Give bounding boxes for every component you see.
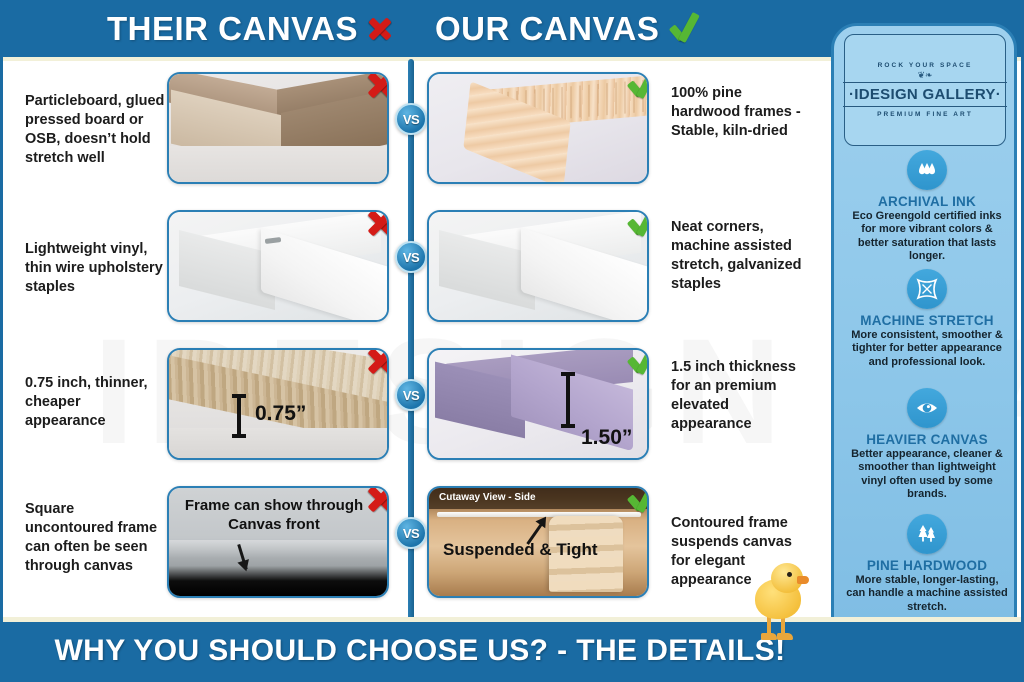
check-mark-icon bbox=[626, 210, 649, 238]
white-vinyl-corner-photo bbox=[169, 212, 387, 320]
feature-archival-ink: ARCHIVAL INK Eco Greengold certified ink… bbox=[840, 150, 1014, 264]
check-mark-icon bbox=[668, 14, 698, 44]
water-drops-icon bbox=[907, 150, 947, 190]
footer-headline: WHY YOU SHOULD CHOOSE US? - THE DETAILS! bbox=[54, 634, 975, 668]
our-row-label: 100% pine hardwood frames - Stable, kiln… bbox=[671, 84, 811, 141]
their-canvas-heading-label: THEIR CANVAS bbox=[107, 10, 358, 48]
comparison-row: Lightweight vinyl, thin wire upholstery … bbox=[3, 210, 823, 336]
feature-description: More stable, longer-lasting, can handle … bbox=[840, 574, 1014, 614]
poster-footer: WHY YOU SHOULD CHOOSE US? - THE DETAILS! bbox=[3, 617, 1024, 679]
feature-heavier-canvas: HEAVIER CANVAS Better appearance, cleane… bbox=[840, 388, 1014, 502]
feature-title: MACHINE STRETCH bbox=[840, 313, 1014, 328]
our-row-photo bbox=[427, 72, 649, 184]
comparison-row: Particleboard, glued pressed board or OS… bbox=[3, 72, 823, 198]
our-row-photo: 1.50” bbox=[427, 348, 649, 460]
brand-sidebar: ROCK YOUR SPACE ❦❧ ·IDESIGN GALLERY· PRE… bbox=[831, 23, 1017, 643]
pine-frame-corner-photo bbox=[429, 74, 647, 182]
their-canvas-heading: THEIR CANVAS bbox=[107, 10, 393, 48]
their-row-label: 0.75 inch, thinner, cheaper appearance bbox=[25, 374, 165, 431]
neat-white-corner-photo bbox=[429, 212, 647, 320]
their-row-photo: Frame can show through Canvas front bbox=[167, 486, 389, 598]
eye-icon bbox=[907, 388, 947, 428]
stretched-canvas-icon bbox=[907, 269, 947, 309]
their-row-label: Square uncontoured frame can often be se… bbox=[25, 500, 165, 575]
feature-title: ARCHIVAL INK bbox=[840, 194, 1014, 209]
x-mark-icon bbox=[367, 16, 393, 42]
our-row-photo bbox=[427, 210, 649, 322]
our-row-photo: Cutaway View - Side Suspended & Tight bbox=[427, 486, 649, 598]
thickness-overlay-label: 1.50” bbox=[581, 426, 632, 450]
pine-trees-icon bbox=[907, 514, 947, 554]
comparison-row: Square uncontoured frame can often be se… bbox=[3, 486, 823, 612]
show-through-overlay-line2: Canvas front bbox=[181, 516, 367, 533]
feature-description: Eco Greengold certified inks for more vi… bbox=[840, 210, 1014, 264]
x-mark-icon bbox=[366, 210, 389, 238]
their-row-photo: 0.75” bbox=[167, 348, 389, 460]
logo-tagline-top: ROCK YOUR SPACE bbox=[878, 62, 973, 69]
their-row-label: Lightweight vinyl, thin wire upholstery … bbox=[25, 240, 165, 297]
x-mark-icon bbox=[366, 72, 389, 100]
logo-tagline-bottom: PREMIUM FINE ART bbox=[877, 111, 973, 118]
feature-title: HEAVIER CANVAS bbox=[840, 432, 1014, 447]
suspended-tight-overlay-label: Suspended & Tight bbox=[443, 540, 598, 560]
check-mark-icon bbox=[626, 348, 649, 376]
check-mark-icon bbox=[626, 72, 649, 100]
x-mark-icon bbox=[366, 348, 389, 376]
their-row-photo bbox=[167, 210, 389, 322]
feature-description: More consistent, smoother & tighter for … bbox=[840, 329, 1014, 369]
duckling-mascot-icon bbox=[751, 563, 809, 645]
infographic-poster: THEIR CANVAS OUR CANVAS IDESIGN GALLERY … bbox=[0, 0, 1024, 682]
show-through-overlay-line1: Frame can show through bbox=[181, 497, 367, 514]
feature-description: Better appearance, cleaner & smoother th… bbox=[840, 448, 1014, 502]
our-row-label: Neat corners, machine assisted stretch, … bbox=[671, 218, 811, 293]
logo-ornament-icon: ❦❧ bbox=[917, 71, 932, 80]
thickness-caliper bbox=[237, 394, 241, 438]
feature-title: PINE HARDWOOD bbox=[840, 558, 1014, 573]
thickness-caliper bbox=[566, 372, 570, 428]
brand-logo: ROCK YOUR SPACE ❦❧ ·IDESIGN GALLERY· PRE… bbox=[844, 34, 1006, 146]
our-canvas-heading: OUR CANVAS bbox=[435, 10, 698, 48]
x-mark-icon bbox=[366, 486, 389, 514]
their-row-photo bbox=[167, 72, 389, 184]
our-row-label: 1.5 inch thickness for an premium elevat… bbox=[671, 358, 811, 433]
logo-name: ·IDESIGN GALLERY· bbox=[843, 82, 1007, 107]
particleboard-corner-photo bbox=[169, 74, 387, 182]
their-row-label: Particleboard, glued pressed board or OS… bbox=[25, 92, 165, 167]
feature-machine-stretch: MACHINE STRETCH More consistent, smoothe… bbox=[840, 269, 1014, 369]
cutaway-caption-label: Cutaway View - Side bbox=[439, 492, 536, 503]
thickness-overlay-label: 0.75” bbox=[255, 402, 306, 426]
feature-pine-hardwood: PINE HARDWOOD More stable, longer-lastin… bbox=[840, 514, 1014, 614]
comparison-row: 0.75 inch, thinner, cheaper appearance 0… bbox=[3, 348, 823, 474]
check-mark-icon bbox=[626, 486, 649, 514]
our-canvas-heading-label: OUR CANVAS bbox=[435, 10, 659, 48]
